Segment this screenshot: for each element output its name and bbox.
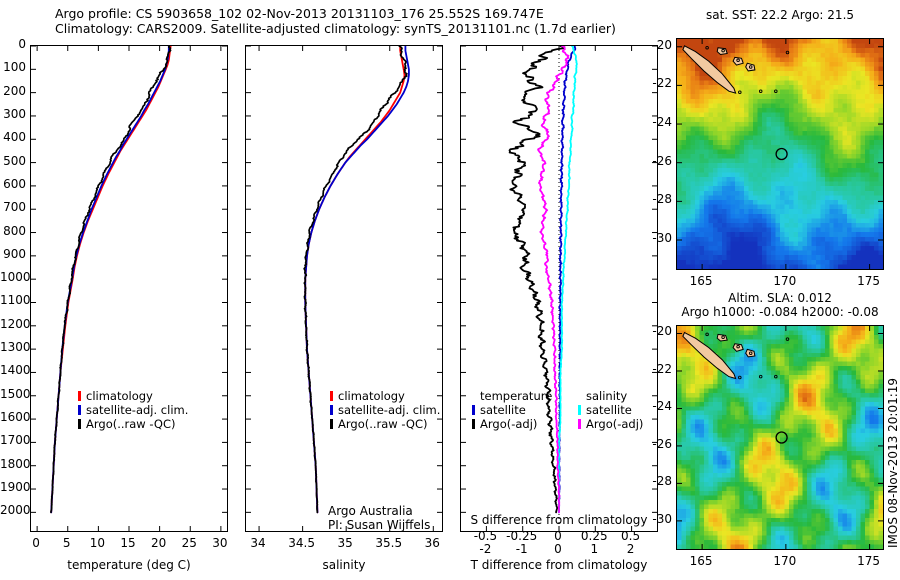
- legend-label: satellite: [586, 403, 632, 417]
- legend-item: satellite-adj. clim.: [330, 403, 440, 417]
- temperature-tick-label: 10: [82, 536, 112, 550]
- longitude-tick-label: 165: [681, 274, 721, 288]
- salinity-legend: climatology satellite-adj. clim. Argo(..…: [330, 389, 440, 431]
- latitude-tick-label: -30: [634, 231, 672, 245]
- legend-item: satellite: [472, 403, 552, 417]
- latitude-tick-label: -28: [634, 474, 672, 488]
- temperature-tick-label: 20: [144, 536, 174, 550]
- depth-tick-label: 500: [0, 154, 26, 168]
- depth-tick-label: 2000: [0, 503, 26, 517]
- salinity-panel: [245, 45, 443, 532]
- difference-panel: [460, 45, 658, 532]
- depth-tick-label: 200: [0, 84, 26, 98]
- temperature-axis-label: temperature (deg C): [30, 558, 228, 572]
- sla-map-title: Altim. SLA: 0.012 Argo h1000: -0.084 h20…: [660, 291, 900, 319]
- legend-label: satellite-adj. clim.: [86, 403, 188, 417]
- legend-label: Argo(-adj): [480, 417, 537, 431]
- legend-item: climatology: [330, 389, 440, 403]
- legend-label: Argo(..raw -QC): [86, 417, 176, 431]
- legend-swatch-argo-adj: [578, 419, 581, 429]
- legend-swatch-argo-adj: [472, 419, 475, 429]
- legend-label: satellite-adj. clim.: [338, 403, 440, 417]
- legend-label: climatology: [338, 389, 405, 403]
- legend-swatch-satellite: [472, 405, 475, 415]
- latitude-tick-label: -26: [634, 154, 672, 168]
- salinity-tick-label: 34: [238, 536, 278, 550]
- latitude-tick-label: -22: [634, 76, 672, 90]
- temperature-tick-label: 25: [174, 536, 204, 550]
- depth-tick-label: 300: [0, 107, 26, 121]
- sst-map-title: sat. SST: 22.2 Argo: 21.5: [660, 8, 900, 22]
- longitude-tick-label: 165: [681, 554, 721, 568]
- depth-tick-label: 1600: [0, 410, 26, 424]
- title-line-1: Argo profile: CS 5903658_102 02-Nov-2013…: [55, 6, 655, 21]
- credit-line-2: PI: Susan Wijffels: [328, 518, 430, 532]
- longitude-tick-label: 175: [849, 554, 889, 568]
- legend-swatch-satellite-adj: [330, 405, 333, 415]
- legend-item: climatology: [78, 389, 188, 403]
- depth-tick-label: 1100: [0, 293, 26, 307]
- longitude-tick-label: 170: [765, 274, 805, 288]
- legend-swatch-argo: [78, 419, 81, 429]
- depth-tick-label: 800: [0, 224, 26, 238]
- latitude-tick-label: -30: [634, 512, 672, 526]
- salinity-tick-label: 35.5: [369, 536, 409, 550]
- legend-swatch-argo: [330, 419, 333, 429]
- difference-temperature-axis-label: T difference from climatology: [455, 558, 663, 572]
- salinity-axis-label: salinity: [245, 558, 443, 572]
- temperature-difference-tick-label: 2: [611, 542, 651, 556]
- salinity-difference-tick-label: 0.5: [609, 529, 653, 543]
- sst-map-image: [677, 39, 883, 269]
- latitude-tick-label: -24: [634, 399, 672, 413]
- difference-plot: [461, 46, 657, 531]
- legend-swatch-satellite: [578, 405, 581, 415]
- latitude-tick-label: -24: [634, 115, 672, 129]
- legend-item: Argo(..raw -QC): [330, 417, 440, 431]
- salinity-tick-label: 34.5: [282, 536, 322, 550]
- legend-item: Argo(-adj): [578, 417, 643, 431]
- depth-tick-label: 400: [0, 130, 26, 144]
- temperature-difference-tick-label: -2: [465, 542, 505, 556]
- depth-tick-label: 1500: [0, 387, 26, 401]
- salinity-tick-label: 36: [412, 536, 452, 550]
- legend-label: Argo(-adj): [586, 417, 643, 431]
- depth-tick-label: 1400: [0, 363, 26, 377]
- legend-label: climatology: [86, 389, 153, 403]
- depth-tick-label: 1700: [0, 433, 26, 447]
- sst-map: [676, 38, 884, 270]
- temperature-difference-tick-label: 0: [538, 542, 578, 556]
- legend-item: Argo(-adj): [472, 417, 552, 431]
- salinity-plot: [246, 46, 442, 531]
- sla-title-line-2: Argo h1000: -0.084 h2000: -0.08: [660, 305, 900, 319]
- latitude-tick-label: -28: [634, 192, 672, 206]
- credit-line-1: Argo Australia: [328, 504, 430, 518]
- legend-item: Argo(..raw -QC): [78, 417, 188, 431]
- legend-swatch-satellite-adj: [78, 405, 81, 415]
- legend-swatch-climatology: [78, 391, 81, 401]
- legend-heading: temperature: [472, 389, 552, 403]
- difference-salinity-axis-label: S difference from climatology: [460, 513, 658, 527]
- temperature-tick-label: 30: [205, 536, 235, 550]
- temperature-tick-label: 15: [113, 536, 143, 550]
- temperature-legend: climatology satellite-adj. clim. Argo(..…: [78, 389, 188, 431]
- legend-swatch-climatology: [330, 391, 333, 401]
- salinity-tick-label: 35: [325, 536, 365, 550]
- depth-tick-label: 100: [0, 60, 26, 74]
- temperature-plot: [31, 46, 227, 531]
- depth-tick-label: 600: [0, 177, 26, 191]
- legend-label: satellite: [480, 403, 526, 417]
- credit-block: Argo Australia PI: Susan Wijffels: [328, 504, 430, 532]
- temperature-tick-label: 5: [52, 536, 82, 550]
- difference-legend-temperature: temperature satellite Argo(-adj): [472, 389, 552, 431]
- title-line-2: Climatology: CARS2009. Satellite-adjuste…: [55, 21, 655, 36]
- depth-tick-label: 0: [0, 37, 26, 51]
- longitude-tick-label: 170: [765, 554, 805, 568]
- latitude-tick-label: -20: [634, 324, 672, 338]
- temperature-panel: [30, 45, 228, 532]
- sla-map-image: [677, 326, 883, 549]
- sla-map: [676, 325, 884, 550]
- depth-tick-label: 1800: [0, 457, 26, 471]
- latitude-tick-label: -22: [634, 362, 672, 376]
- latitude-tick-label: -20: [634, 38, 672, 52]
- latitude-tick-label: -26: [634, 437, 672, 451]
- depth-tick-label: 1200: [0, 317, 26, 331]
- depth-tick-label: 1900: [0, 480, 26, 494]
- depth-tick-label: 1300: [0, 340, 26, 354]
- page-title: Argo profile: CS 5903658_102 02-Nov-2013…: [55, 6, 655, 36]
- legend-label: Argo(..raw -QC): [338, 417, 428, 431]
- depth-tick-label: 1000: [0, 270, 26, 284]
- temperature-difference-tick-label: -1: [502, 542, 542, 556]
- sla-title-line-1: Altim. SLA: 0.012: [660, 291, 900, 305]
- depth-tick-label: 900: [0, 247, 26, 261]
- temperature-tick-label: 0: [21, 536, 51, 550]
- temperature-difference-tick-label: 1: [574, 542, 614, 556]
- timestamp-label: IMOS 08-Nov-2013 20:01:19: [886, 378, 900, 548]
- legend-item: satellite-adj. clim.: [78, 403, 188, 417]
- depth-tick-label: 700: [0, 200, 26, 214]
- longitude-tick-label: 175: [849, 274, 889, 288]
